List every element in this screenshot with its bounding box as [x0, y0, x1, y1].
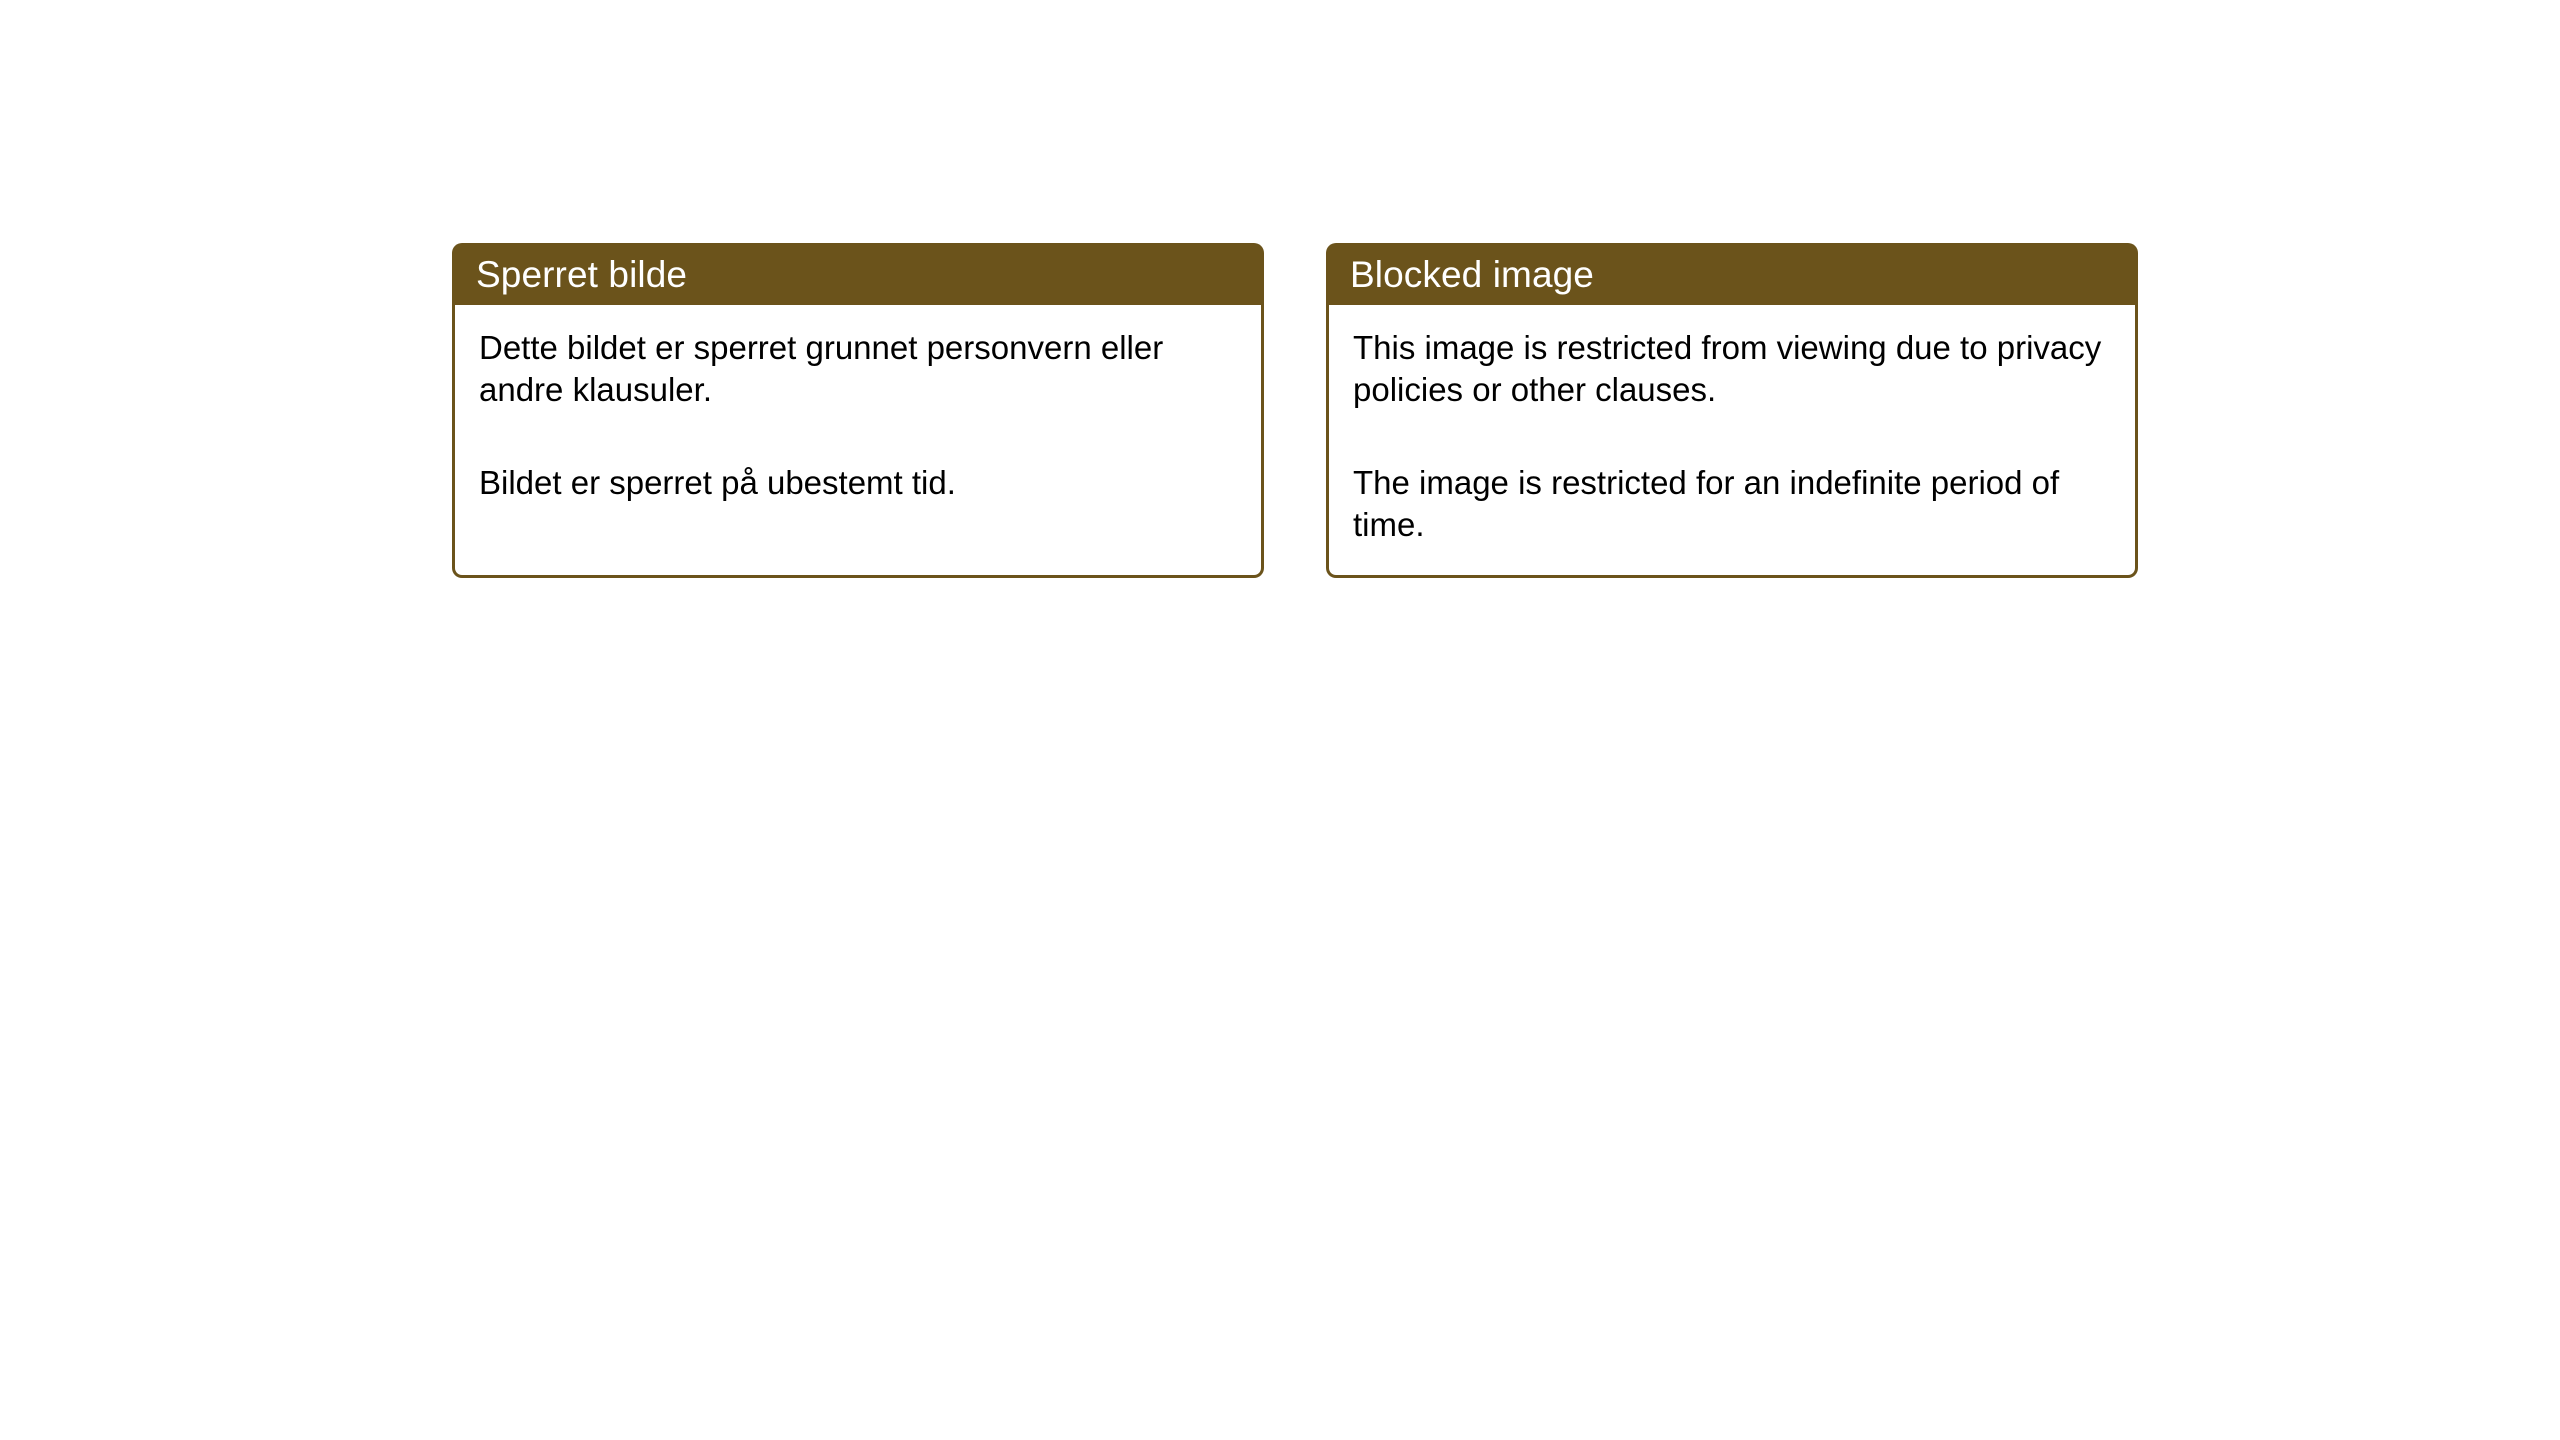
card-header-norwegian: Sperret bilde	[452, 243, 1264, 305]
card-paragraph-restriction-duration-english: The image is restricted for an indefinit…	[1353, 462, 2111, 545]
card-body-norwegian: Dette bildet er sperret grunnet personve…	[452, 305, 1264, 578]
card-paragraph-restriction-reason-english: This image is restricted from viewing du…	[1353, 327, 2111, 410]
card-header-english: Blocked image	[1326, 243, 2138, 305]
card-title-english: Blocked image	[1350, 256, 1594, 293]
card-body-english: This image is restricted from viewing du…	[1326, 305, 2138, 578]
card-title-norwegian: Sperret bilde	[476, 256, 687, 293]
blocked-image-card-english: Blocked image This image is restricted f…	[1326, 243, 2138, 578]
blocked-image-card-norwegian: Sperret bilde Dette bildet er sperret gr…	[452, 243, 1264, 578]
card-paragraph-restriction-reason-norwegian: Dette bildet er sperret grunnet personve…	[479, 327, 1179, 410]
blocked-image-notices: Sperret bilde Dette bildet er sperret gr…	[452, 243, 2138, 578]
card-paragraph-restriction-duration-norwegian: Bildet er sperret på ubestemt tid.	[479, 462, 1179, 504]
